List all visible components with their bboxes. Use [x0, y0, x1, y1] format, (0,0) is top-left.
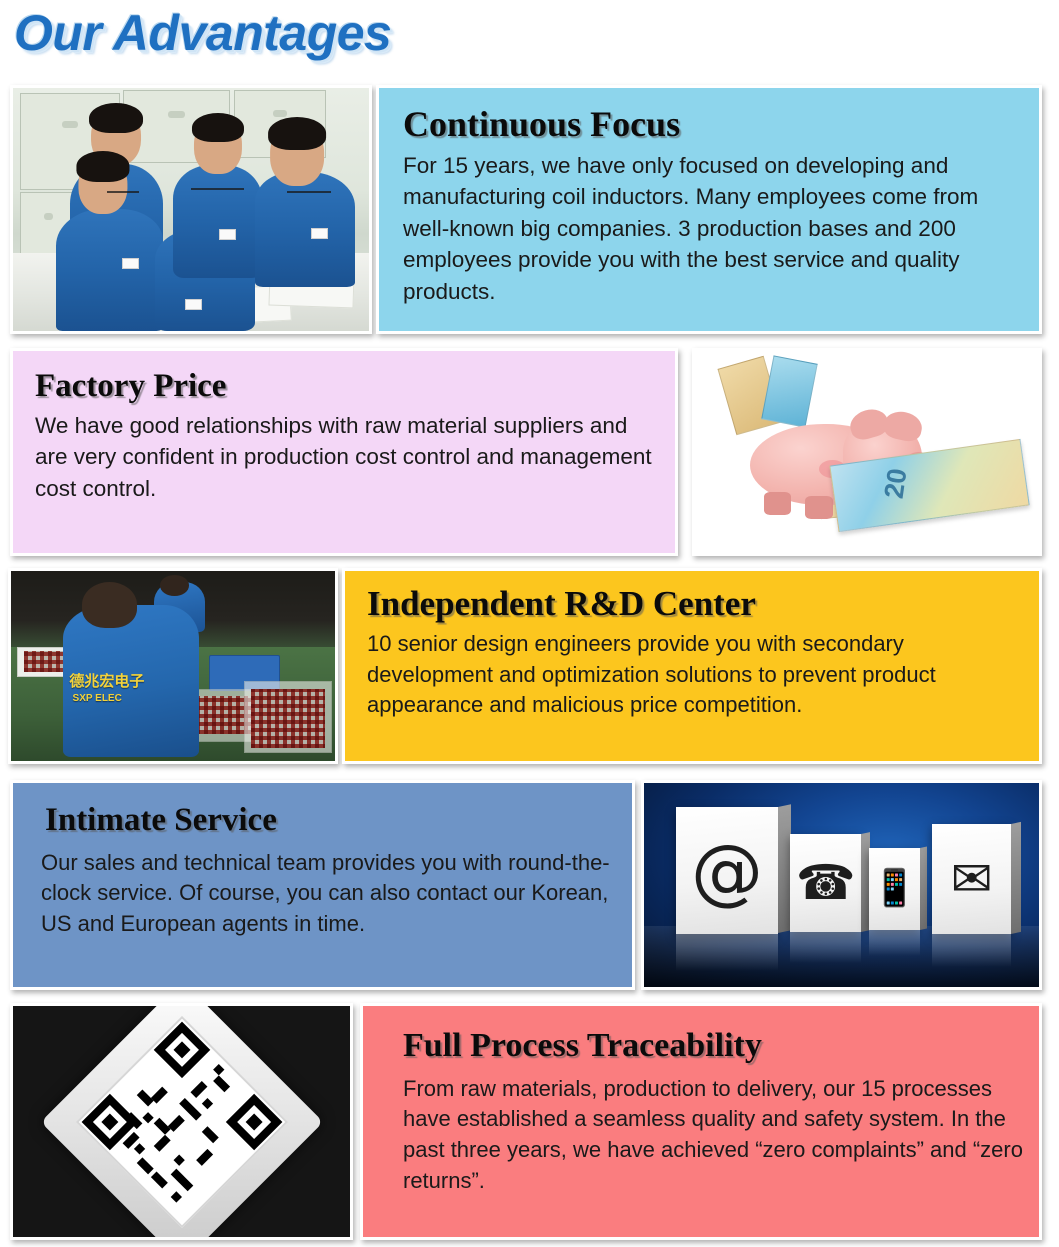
worker-figure	[255, 122, 355, 287]
panel-continuous-focus: Continuous Focus For 15 years, we have o…	[376, 85, 1042, 334]
heading-factory-price: Factory Price	[35, 369, 659, 404]
envelope-icon: ✉	[932, 824, 1011, 934]
panel-independent-rd-center: Independent R&D Center 10 senior design …	[342, 568, 1042, 764]
body-continuous-focus: For 15 years, we have only focused on de…	[403, 150, 1023, 308]
banknote-value-label: 20	[878, 467, 913, 501]
piggy-bank-photo: 20	[692, 348, 1042, 556]
panel-factory-price: Factory Price We have good relationships…	[10, 348, 678, 556]
qr-code-tag-photo	[10, 1003, 353, 1240]
heading-intimate-service: Intimate Service	[45, 803, 616, 838]
advantages-page: Our Advantages	[0, 0, 1059, 1247]
heading-full-process-traceability: Full Process Traceability	[403, 1028, 1023, 1064]
jacket-text-cn: 德兆宏电子	[69, 670, 144, 691]
at-symbol-icon: @	[676, 807, 779, 933]
body-independent-rd-center: 10 senior design engineers provide you w…	[367, 629, 1023, 721]
body-full-process-traceability: From raw materials, production to delive…	[403, 1074, 1023, 1197]
worker-figure	[56, 156, 163, 331]
page-title: Our Advantages	[14, 4, 391, 62]
panel-intimate-service: Intimate Service Our sales and technical…	[10, 780, 635, 990]
heading-independent-rd-center: Independent R&D Center	[367, 586, 1023, 623]
panel-full-process-traceability: Full Process Traceability From raw mater…	[360, 1003, 1042, 1240]
worker-figure	[173, 117, 262, 277]
heading-continuous-focus: Continuous Focus	[403, 106, 1023, 144]
body-factory-price: We have good relationships with raw mate…	[35, 410, 659, 505]
contact-cubes-photo: @ ☎ 📱 ✉	[641, 780, 1042, 990]
telephone-handset-icon: ☎	[790, 834, 861, 932]
body-intimate-service: Our sales and technical team provides yo…	[41, 848, 616, 940]
mobile-phone-icon: 📱	[869, 848, 920, 930]
factory-team-photo	[10, 85, 372, 334]
production-line-photo: 德兆宏电子 SXP ELEC	[8, 568, 338, 764]
jacket-text-en: SXP ELEC	[73, 693, 122, 704]
